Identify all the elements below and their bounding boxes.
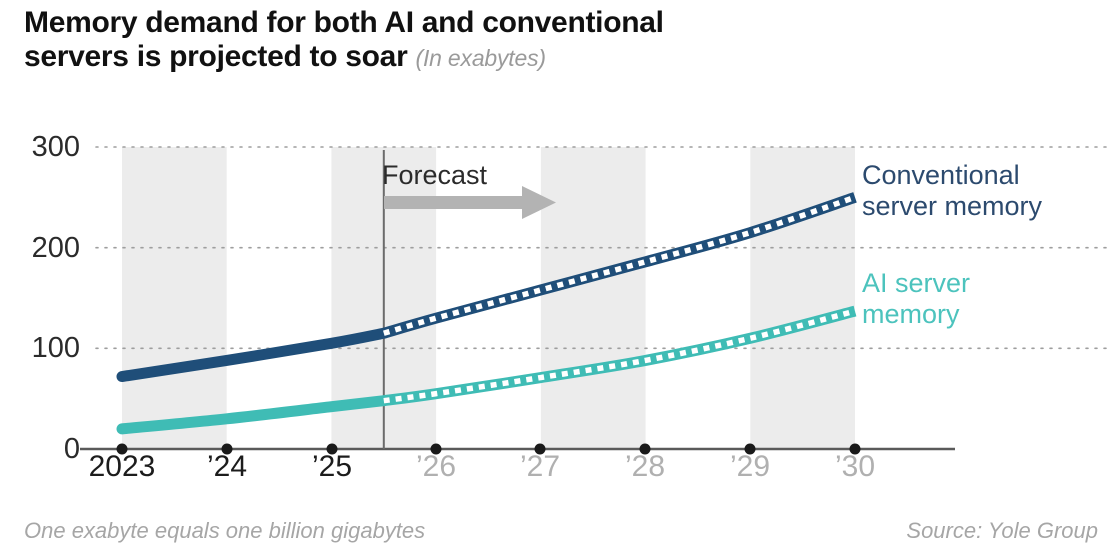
data-series-layer bbox=[122, 197, 855, 429]
series-line-conventional-actual bbox=[122, 333, 384, 376]
x-tick-label-2025: ’25 bbox=[282, 452, 382, 482]
series-line-ai-forecast bbox=[384, 311, 855, 401]
y-tick-label-100: 100 bbox=[0, 334, 80, 363]
chart-title-line-1: Memory demand for both AI and convention… bbox=[24, 6, 1094, 40]
x-tick-label-2029: ’29 bbox=[700, 452, 800, 482]
x-tick-label-2024: ’24 bbox=[177, 452, 277, 482]
legend-label-ai-line1: AI server bbox=[862, 268, 970, 299]
shaded-band bbox=[122, 147, 227, 449]
chart-figure: Memory demand for both AI and convention… bbox=[0, 0, 1116, 558]
legend-label-conventional-line1: Conventional bbox=[862, 160, 1042, 191]
shaded-band bbox=[331, 147, 436, 449]
x-tick-label-2030: ’30 bbox=[805, 452, 905, 482]
series-line-conventional-forecast bbox=[384, 197, 855, 333]
chart-title-text-2: servers is projected to soar bbox=[24, 40, 407, 73]
legend-label-conventional-line2: server memory bbox=[862, 191, 1042, 222]
y-tick-label-300: 300 bbox=[0, 133, 80, 162]
x-tick-label-2027: ’27 bbox=[490, 452, 590, 482]
x-tick-label-2028: ’28 bbox=[595, 452, 695, 482]
chart-title-block: Memory demand for both AI and convention… bbox=[24, 6, 1094, 75]
legend-label-conventional: Conventional server memory bbox=[862, 160, 1042, 222]
series-line-ai-actual bbox=[122, 401, 384, 429]
legend-label-ai: AI server memory bbox=[862, 268, 970, 330]
footnote-definition: One exabyte equals one billion gigabytes bbox=[24, 518, 425, 544]
shaded-band bbox=[750, 147, 855, 449]
footnote-source: Source: Yole Group bbox=[906, 518, 1098, 544]
shaded-bands bbox=[122, 147, 855, 449]
y-tick-label-200: 200 bbox=[0, 234, 80, 263]
x-tick-label-2026: ’26 bbox=[386, 452, 486, 482]
forecast-label: Forecast bbox=[382, 160, 487, 191]
chart-unit-note: (In exabytes) bbox=[416, 45, 546, 71]
chart-title-line-2: servers is projected to soar (In exabyte… bbox=[24, 40, 1094, 75]
series-line-conventional-forecast-dots bbox=[384, 197, 855, 333]
legend-label-ai-line2: memory bbox=[862, 299, 970, 330]
x-tick-label-2023: 2023 bbox=[62, 452, 182, 482]
shaded-band bbox=[541, 147, 646, 449]
series-line-ai-forecast-dots bbox=[384, 311, 855, 401]
